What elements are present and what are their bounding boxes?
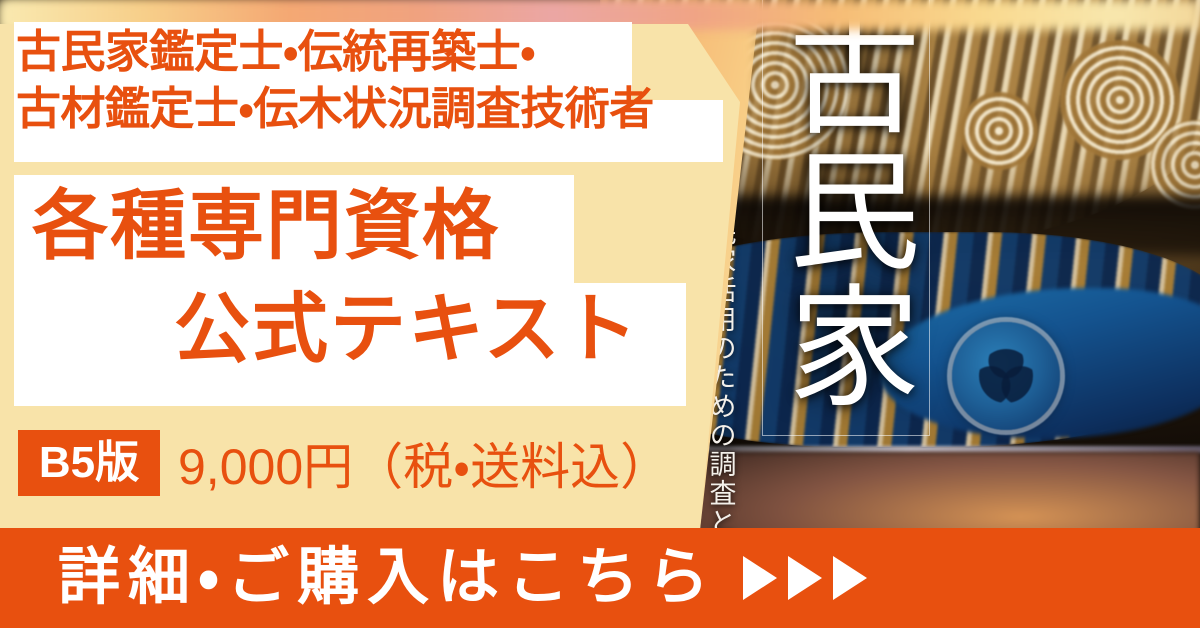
certifications-line-2: 古材鑑定士・伝木状況調査技術者 xyxy=(16,81,716,138)
promotional-banner: 古民家 伝統構法、古民家活用のための調査と再生の 古民家鑑定士・伝統再築士・ 古… xyxy=(0,0,1200,628)
photo-curl-ornament xyxy=(960,92,1038,170)
certifications-text: 古民家鑑定士・伝統再築士・ 古材鑑定士・伝木状況調査技術者 xyxy=(16,24,716,137)
headline-line-2: 公式テキスト xyxy=(14,278,686,381)
certifications-line-1: 古民家鑑定士・伝統再築士・ xyxy=(16,24,716,81)
headline-text: 各種専門資格 公式テキスト xyxy=(14,175,686,382)
family-crest-icon xyxy=(952,322,1060,430)
cta-label: 詳細・ご購入はこちら xyxy=(58,547,717,609)
book-cover-title: 古民家 xyxy=(782,6,912,436)
chevron-right-icon xyxy=(788,556,822,600)
headline-line-1: 各種専門資格 xyxy=(14,175,686,278)
cta-bar[interactable]: 詳細・ご購入はこちら xyxy=(0,528,1200,628)
format-badge: B5版 xyxy=(18,430,160,496)
price-text: 9,000円（税・送料込） xyxy=(178,432,670,494)
chevron-right-icon xyxy=(833,556,867,600)
cta-arrow-group xyxy=(743,556,867,600)
chevron-right-icon xyxy=(743,556,777,600)
